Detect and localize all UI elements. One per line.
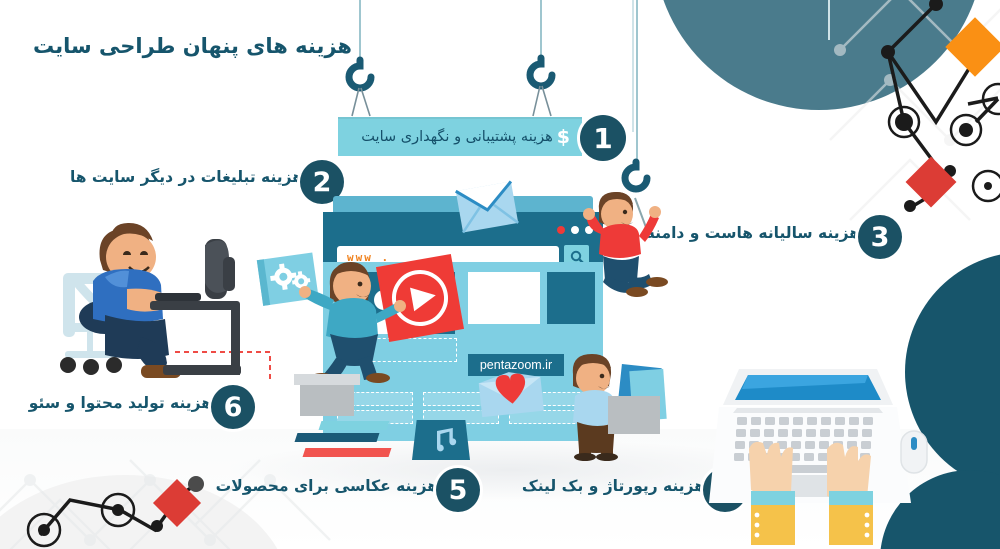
item-1-number-badge[interactable]: 1 — [580, 115, 626, 161]
window-dot-2 — [571, 226, 579, 234]
desk-worker-illustration — [45, 205, 245, 385]
laptop-top-view-with-hands — [715, 363, 930, 549]
crane-hook-left-icon — [346, 58, 378, 118]
content-tile-white — [468, 272, 540, 324]
crane-hook-right-icon — [527, 56, 559, 118]
item-1-label: هزینه پشتیبانی و نگهداری سایت — [361, 129, 552, 145]
pedestal-left-top — [294, 374, 360, 385]
item-3-number-badge[interactable]: 3 — [858, 215, 902, 259]
music-note-icon — [428, 428, 454, 452]
item-1-banner[interactable]: $ هزینه پشتیبانی و نگهداری سایت — [338, 117, 582, 156]
heart-envelope-icon — [478, 370, 544, 418]
window-dot-3-close[interactable] — [557, 226, 565, 234]
rope-left — [359, 0, 361, 60]
envelope-icon — [456, 178, 518, 236]
item-3-label[interactable]: هزینه سالیانه هاست و دامنه — [650, 224, 860, 242]
color-bar-dark — [295, 433, 380, 442]
item-2-label[interactable]: هزینه تبلیغات در دیگر سایت ها — [58, 168, 303, 186]
music-note-tile — [412, 420, 470, 460]
item-6-number-badge[interactable]: 6 — [211, 385, 255, 429]
rope-right — [540, 0, 542, 58]
item-5-label[interactable]: هزینه عکاسی برای محصولات — [216, 477, 438, 495]
item-5-number-badge[interactable]: 5 — [436, 468, 480, 512]
node-network-top-right — [858, 0, 1000, 224]
pedestal-left — [300, 382, 354, 416]
man-holding-cards — [300, 258, 405, 383]
page-title: هزینه های پنهان طراحی سایت — [22, 32, 352, 60]
guide-line-1 — [632, 0, 634, 132]
item-4-label[interactable]: هزینه رپورتاژ و بک لینک — [527, 477, 705, 495]
infographic-canvas: هزینه های پنهان طراحی سایت $ هزینه پشتیب… — [0, 0, 1000, 549]
dollar-icon: $ — [557, 126, 570, 148]
pedestal-right — [608, 396, 660, 434]
rope-climber — [636, 0, 638, 162]
color-bar-light — [319, 421, 390, 430]
item-6-label[interactable]: هزینه تولید محتوا و سئو — [20, 394, 212, 412]
node-network-bottom-left — [10, 440, 230, 549]
man-swinging-on-hook — [585, 188, 670, 298]
color-bar-red — [303, 448, 392, 457]
